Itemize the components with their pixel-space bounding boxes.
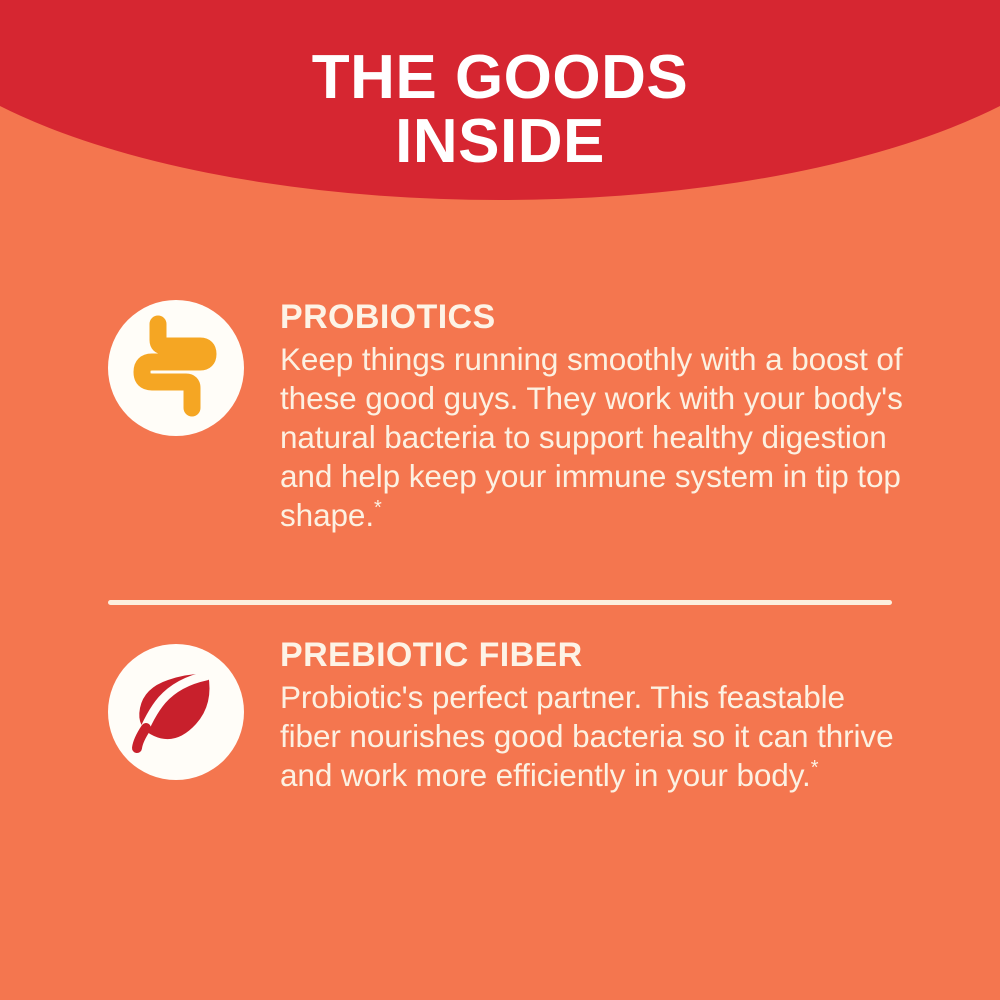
- prebiotic-text-block: PREBIOTIC FIBER Probiotic's perfect part…: [280, 638, 1000, 795]
- prebiotic-body-text: Probiotic's perfect partner. This feasta…: [280, 679, 894, 793]
- probiotics-footnote-marker: *: [374, 497, 382, 519]
- probiotics-body: Keep things running smoothly with a boos…: [280, 340, 905, 535]
- poster-root: THE GOODS INSIDE PROBIOTICS Keep things …: [0, 0, 1000, 1000]
- section-divider: [108, 600, 892, 605]
- page-title-line-1: THE GOODS: [0, 46, 1000, 110]
- prebiotic-heading: PREBIOTIC FIBER: [280, 638, 960, 672]
- probiotics-heading: PROBIOTICS: [280, 300, 960, 334]
- probiotics-text-block: PROBIOTICS Keep things running smoothly …: [280, 300, 1000, 535]
- intestine-icon-circle: [108, 300, 244, 436]
- page-title-line-2: INSIDE: [0, 110, 1000, 174]
- page-title: THE GOODS INSIDE: [0, 46, 1000, 174]
- prebiotic-body: Probiotic's perfect partner. This feasta…: [280, 678, 905, 795]
- leaf-icon: [124, 662, 228, 763]
- section-probiotics: PROBIOTICS Keep things running smoothly …: [0, 300, 1000, 535]
- prebiotic-footnote-marker: *: [811, 757, 819, 779]
- section-prebiotic-fiber: PREBIOTIC FIBER Probiotic's perfect part…: [0, 638, 1000, 795]
- leaf-icon-circle: [108, 644, 244, 780]
- intestine-icon: [128, 314, 224, 423]
